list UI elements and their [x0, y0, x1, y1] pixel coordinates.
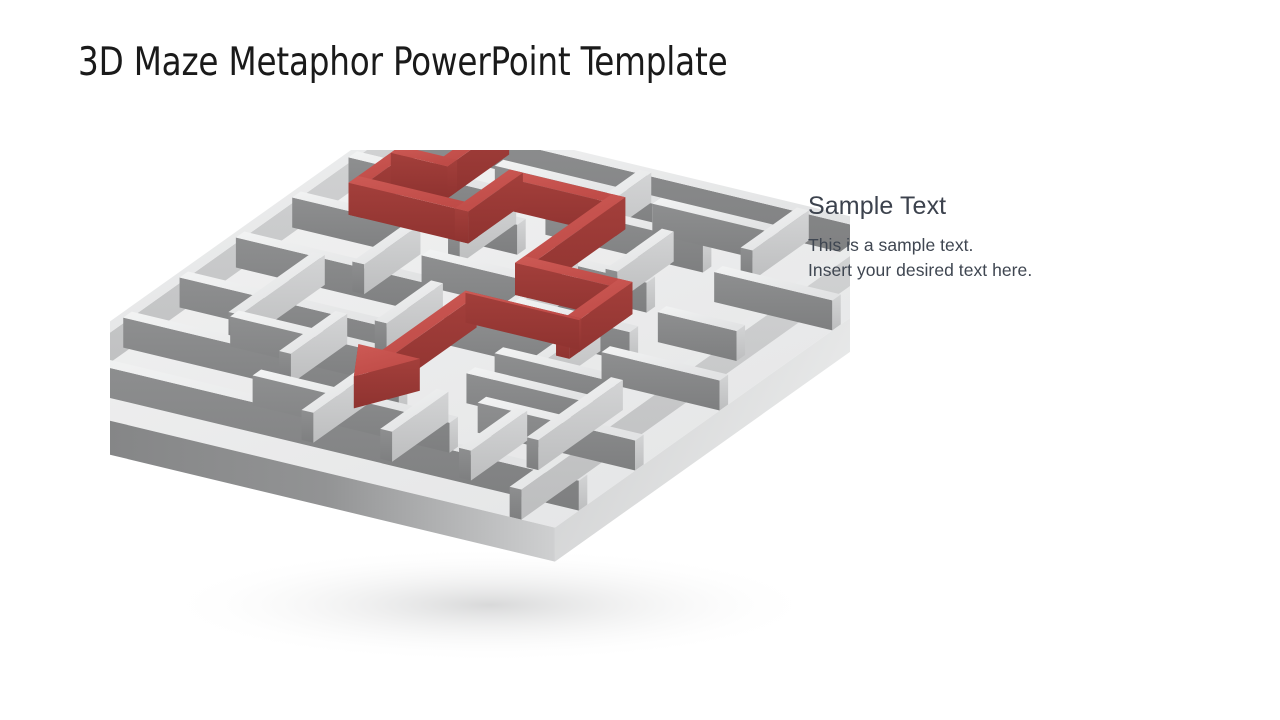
maze-svg [110, 150, 850, 660]
wall-side-front [459, 448, 471, 481]
wall-side-right [647, 277, 655, 313]
maze-geometry [110, 150, 850, 562]
text-panel: Sample Text This is a sample text. Inser… [808, 193, 1168, 284]
wall-side-right [635, 435, 643, 471]
path-side-right [448, 160, 458, 199]
maze-illustration [110, 150, 850, 660]
wall-side-front [527, 437, 539, 470]
ground-shadow [160, 547, 820, 660]
path-side-front [455, 208, 468, 243]
page-title: 3D Maze Metaphor PowerPoint Template [78, 40, 727, 85]
wall-side-right [517, 219, 525, 255]
wall-side-front [510, 487, 522, 520]
wall-side-right [450, 417, 458, 453]
wall-side-right [579, 475, 587, 511]
wall-side-front [302, 410, 314, 443]
wall-side-right [832, 294, 840, 330]
slide-canvas: 3D Maze Metaphor PowerPoint Template [0, 0, 1280, 720]
body-line-1: This is a sample text. [808, 233, 1168, 259]
wall-side-front [380, 429, 392, 462]
wall-side-front [352, 261, 364, 294]
wall-side-right [720, 375, 728, 411]
body-line-2: Insert your desired text here. [808, 258, 1168, 284]
path-side-right [579, 318, 581, 352]
sample-text-heading: Sample Text [808, 193, 1168, 221]
wall-side-right [737, 325, 745, 361]
